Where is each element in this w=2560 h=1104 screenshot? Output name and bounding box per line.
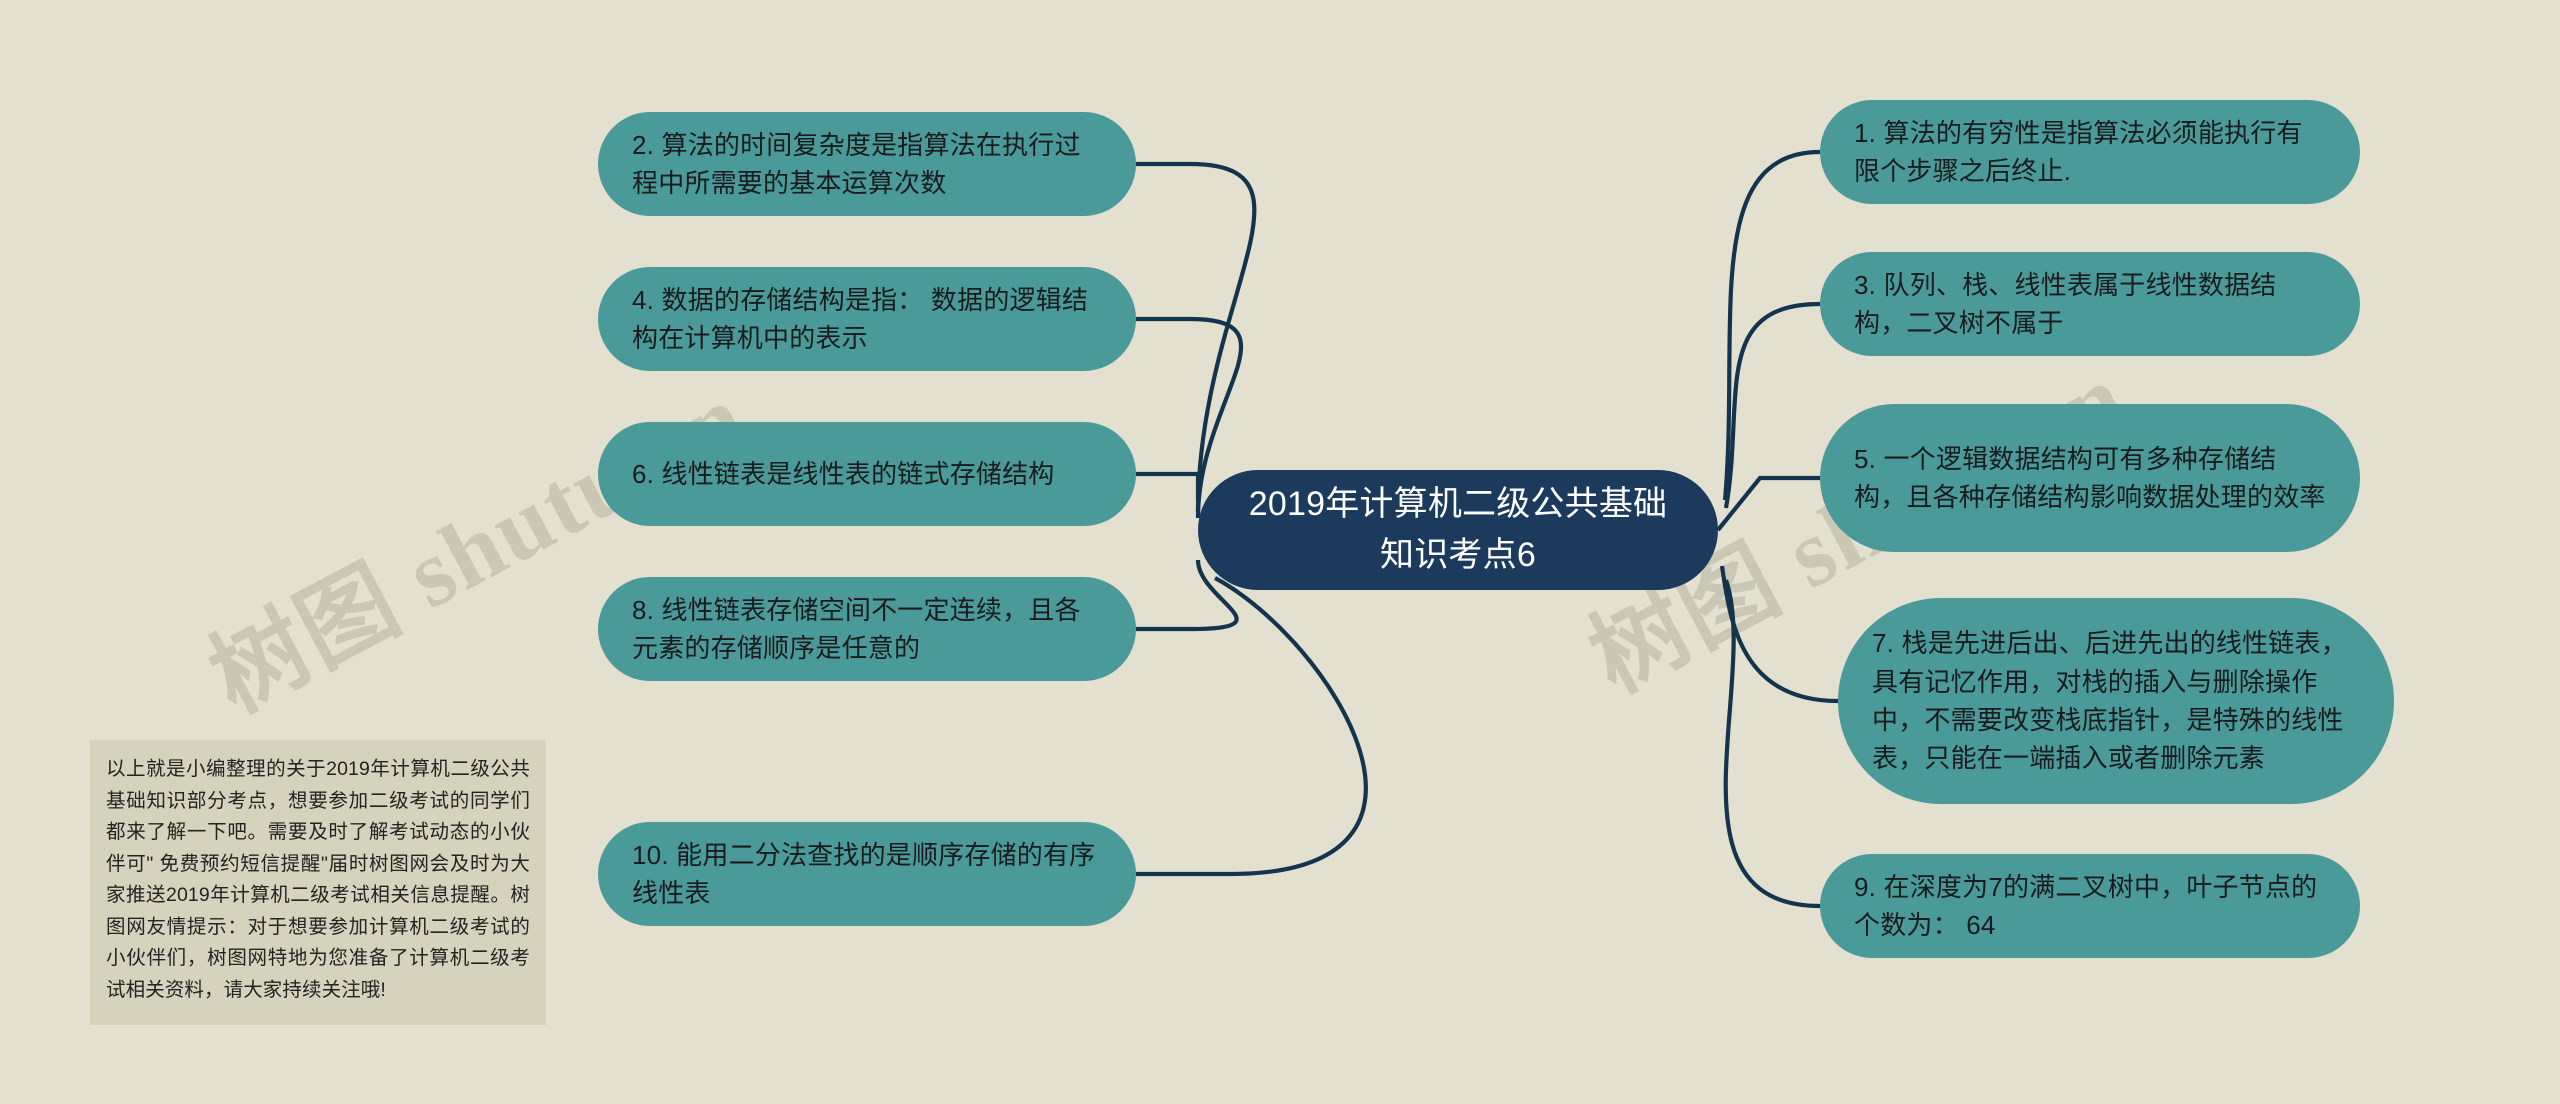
node-10-label: 10. 能用二分法查找的是顺序存储的有序线性表 [632,836,1102,913]
mindmap-canvas: 树图 shutu.cn 树图 shutu.cn 2. 算法的时间复杂度是指算法在… [0,0,2560,1104]
root-label: 2019年计算机二级公共基础知识考点6 [1238,479,1678,581]
connector-root-to-node-7 [1722,566,1838,701]
mindmap-root-node[interactable]: 2019年计算机二级公共基础知识考点6 [1198,470,1718,590]
connector-root-to-node-6 [1136,474,1198,500]
mindmap-node-4[interactable]: 4. 数据的存储结构是指： 数据的逻辑结构在计算机中的表示 [598,267,1136,371]
mindmap-node-1[interactable]: 1. 算法的有穷性是指算法必须能执行有限个步骤之后终止. [1820,100,2360,204]
connector-root-to-node-5 [1718,478,1820,530]
node-9-label: 9. 在深度为7的满二叉树中，叶子节点的个数为： 64 [1854,868,2326,945]
node-2-label: 2. 算法的时间复杂度是指算法在执行过程中所需要的基本运算次数 [632,126,1102,203]
connector-root-to-node-9 [1726,580,1820,906]
node-8-label: 8. 线性链表存储空间不一定连续，且各元素的存储顺序是任意的 [632,591,1102,668]
connector-root-to-node-2 [1136,164,1254,512]
mindmap-node-8[interactable]: 8. 线性链表存储空间不一定连续，且各元素的存储顺序是任意的 [598,577,1136,681]
mindmap-node-3[interactable]: 3. 队列、栈、线性表属于线性数据结构，二叉树不属于 [1820,252,2360,356]
summary-paragraph: 以上就是小编整理的关于2019年计算机二级公共基础知识部分考点，想要参加二级考试… [90,740,546,1025]
mindmap-node-6[interactable]: 6. 线性链表是线性表的链式存储结构 [598,422,1136,526]
node-6-label: 6. 线性链表是线性表的链式存储结构 [632,455,1102,493]
mindmap-node-9[interactable]: 9. 在深度为7的满二叉树中，叶子节点的个数为： 64 [1820,854,2360,958]
node-3-label: 3. 队列、栈、线性表属于线性数据结构，二叉树不属于 [1854,266,2326,343]
connector-root-to-node-3 [1726,304,1820,508]
mindmap-node-2[interactable]: 2. 算法的时间复杂度是指算法在执行过程中所需要的基本运算次数 [598,112,1136,216]
node-5-label: 5. 一个逻辑数据结构可有多种存储结构，且各种存储结构影响数据处理的效率 [1854,440,2326,517]
mindmap-node-7[interactable]: 7. 栈是先进后出、后进先出的线性链表，具有记忆作用，对栈的插入与删除操作中，不… [1838,598,2394,804]
mindmap-node-5[interactable]: 5. 一个逻辑数据结构可有多种存储结构，且各种存储结构影响数据处理的效率 [1820,404,2360,552]
node-1-label: 1. 算法的有穷性是指算法必须能执行有限个步骤之后终止. [1854,114,2326,191]
connector-root-to-node-10 [1136,578,1366,874]
node-7-label: 7. 栈是先进后出、后进先出的线性链表，具有记忆作用，对栈的插入与删除操作中，不… [1872,624,2360,778]
connector-root-to-node-1 [1725,152,1820,500]
node-4-label: 4. 数据的存储结构是指： 数据的逻辑结构在计算机中的表示 [632,281,1102,358]
mindmap-node-10[interactable]: 10. 能用二分法查找的是顺序存储的有序线性表 [598,822,1136,926]
